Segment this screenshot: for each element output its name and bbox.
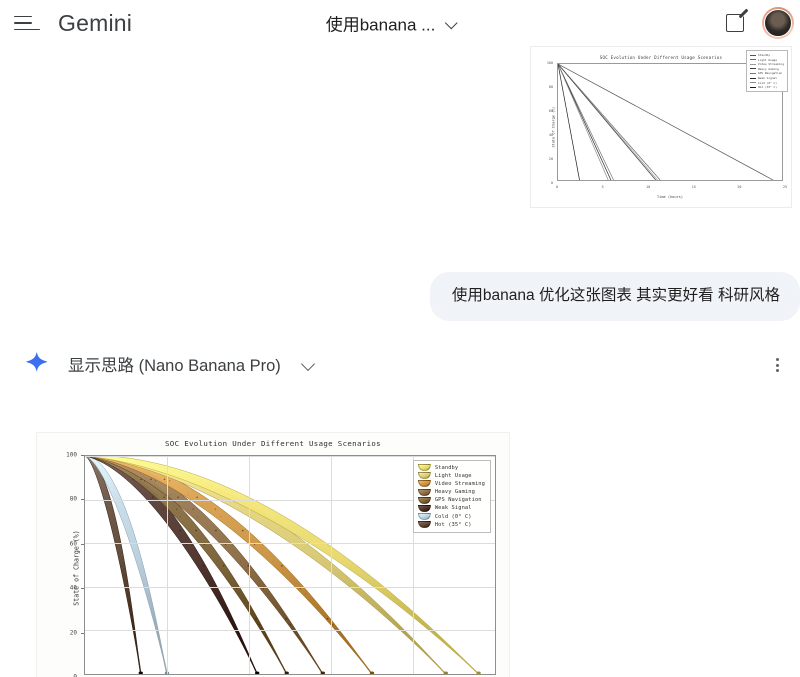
thumbnail-x-tick: 15: [692, 185, 696, 189]
thumbnail-x-axis-label: Time (hours): [557, 195, 783, 199]
legend-item: Light Usage: [418, 472, 485, 479]
banana-speckle: [146, 495, 147, 496]
conversation-area: SOC Evolution Under Different Usage Scen…: [0, 46, 800, 677]
banana-speckle: [255, 618, 257, 620]
thumbnail-legend-item: Light Usage: [750, 58, 784, 62]
legend-label: Cold (0° C): [435, 514, 472, 520]
banana-speckle: [169, 480, 170, 481]
thumbnail-legend-swatch: [750, 59, 756, 60]
banana-speckle: [259, 624, 260, 625]
legend-swatch: [418, 472, 431, 479]
gridline-horizontal: [85, 543, 495, 544]
banana-speckle: [197, 516, 198, 517]
thumbnail-legend-swatch: [750, 68, 756, 69]
legend-swatch: [418, 521, 431, 528]
banana-speckle: [254, 544, 255, 545]
more-vert-icon[interactable]: [768, 356, 786, 374]
model-response-header: 显示思路 (Nano Banana Pro): [24, 351, 317, 377]
y-axis-tickmark: [81, 588, 84, 589]
banana-speckle: [230, 618, 232, 620]
banana-speckle: [152, 496, 154, 498]
thumbnail-line: [558, 64, 608, 180]
legend-item: GPS Navigation: [418, 497, 485, 504]
thumbnail-legend-label: Video Streaming: [758, 62, 784, 66]
thumbnail-legend-item: Heavy Gaming: [750, 67, 784, 71]
legend-item: Weak Signal: [418, 505, 485, 512]
thumbnail-legend-swatch: [750, 87, 756, 88]
thumbnail-y-tick: 100: [547, 61, 553, 65]
thumbnail-legend-label: Light Usage: [758, 58, 777, 62]
gridline-vertical: [331, 456, 332, 674]
banana-speckle: [236, 588, 237, 589]
banana-speckle: [203, 565, 205, 567]
thumbnail-y-tick: 60: [549, 109, 553, 113]
legend-item: Hot (35° C): [418, 521, 485, 528]
compose-icon[interactable]: [726, 12, 748, 34]
thumbnail-y-tick: 0: [551, 181, 553, 185]
thumbnail-legend-item: Cold (0° C): [750, 81, 784, 85]
thumbnail-legend-item: Weak Signal: [750, 76, 784, 80]
banana-speckle: [195, 530, 197, 532]
banana-speckle: [214, 588, 215, 589]
thumbnail-legend-item: Video Streaming: [750, 62, 784, 66]
banana-speckle: [186, 544, 187, 545]
banana-speckle: [290, 624, 291, 625]
header-actions: [726, 7, 790, 39]
banana-speckle: [188, 495, 189, 496]
legend-item: Heavy Gaming: [418, 489, 485, 496]
gridline-vertical: [495, 456, 496, 674]
y-axis-tickmark: [81, 633, 84, 634]
thumbnail-chart[interactable]: SOC Evolution Under Different Usage Scen…: [530, 46, 792, 208]
banana-speckle: [170, 495, 171, 496]
y-axis-tickmark: [81, 544, 84, 545]
thumbnail-line: [558, 64, 611, 180]
banana-speckle: [163, 496, 165, 498]
thumbnail-x-tick: 0: [556, 185, 558, 189]
banana-speckle: [223, 565, 225, 567]
thumbnail-x-tick: 20: [737, 185, 741, 189]
watermark-secondary: [760, 640, 766, 655]
thumbnail-x-tick: 10: [646, 185, 650, 189]
banana-speckle: [157, 495, 158, 496]
avatar[interactable]: [762, 7, 794, 39]
legend-item: Video Streaming: [418, 480, 485, 487]
thumbnail-x-tick: 5: [602, 185, 604, 189]
banana-speckle: [163, 508, 164, 509]
thumbnail-legend: StandbyLight UsageVideo StreamingHeavy G…: [746, 50, 788, 92]
y-axis-tickmark: [81, 455, 84, 456]
banana-speckle: [164, 478, 166, 480]
gridline-horizontal: [85, 587, 495, 588]
thumbnail-legend-label: Hot (35° C): [758, 85, 777, 89]
banana-speckle: [215, 508, 216, 509]
y-axis-tick: 80: [70, 496, 77, 503]
banana-speckle: [327, 618, 329, 620]
y-axis-tick: 20: [70, 629, 77, 636]
thumbnail-y-tick: 80: [549, 85, 553, 89]
banana-speckle: [332, 624, 333, 625]
thumbnail-legend-swatch: [750, 82, 756, 83]
banana-speckle: [240, 561, 241, 562]
thumbnail-legend-swatch: [750, 78, 756, 79]
thumbnail-legend-item: Hot (35° C): [750, 85, 784, 89]
legend-label: Light Usage: [435, 473, 472, 479]
thumbnail-legend-item: GPS Navigation: [750, 71, 784, 75]
banana-speckle: [267, 594, 268, 595]
gridline-horizontal: [85, 456, 495, 457]
chart-legend: StandbyLight UsageVideo StreamingHeavy G…: [413, 460, 491, 533]
thumbnail-line: [558, 64, 773, 180]
app-header: Gemini 使用banana ...: [0, 0, 800, 46]
thumbnail-legend-swatch: [750, 55, 756, 56]
thumbnail-legend-swatch: [750, 73, 756, 74]
thumbnail-y-tick: 40: [549, 133, 553, 137]
banana-speckle: [239, 594, 240, 595]
generated-chart[interactable]: SOC Evolution Under Different Usage Scen…: [36, 432, 510, 677]
thumbnail-y-tick: 20: [549, 157, 553, 161]
banana-speckle: [216, 561, 217, 562]
banana-tip: [139, 671, 143, 674]
watermark: [782, 659, 788, 671]
conversation-title-button[interactable]: 使用banana ...: [326, 11, 459, 36]
thumbnail-legend-label: Cold (0° C): [758, 81, 777, 85]
gridline-vertical: [167, 456, 168, 674]
banana-speckle: [220, 516, 221, 517]
banana-speckle: [217, 594, 218, 595]
chart-title: SOC Evolution Under Different Usage Scen…: [37, 439, 509, 448]
banana-speckle: [204, 544, 205, 545]
legend-label: Hot (35° C): [435, 522, 472, 528]
hamburger-icon[interactable]: [14, 10, 40, 36]
banana-speckle: [150, 478, 152, 480]
legend-label: GPS Navigation: [435, 497, 482, 503]
banana-speckle: [177, 496, 179, 498]
thumbnail-legend-label: GPS Navigation: [758, 71, 782, 75]
banana-speckle: [263, 588, 264, 589]
banana-speckle: [180, 516, 181, 517]
chevron-down-icon: [445, 17, 458, 30]
banana-speckle: [176, 508, 177, 509]
banana-speckle: [215, 530, 217, 532]
gridline-vertical: [249, 456, 250, 674]
banana-speckle: [155, 480, 156, 481]
banana-speckle: [305, 594, 306, 595]
thumbnail-x-tick: 25: [783, 185, 787, 189]
banana-speckle: [285, 618, 287, 620]
legend-label: Heavy Gaming: [435, 489, 475, 495]
thumbnail-line: [558, 64, 580, 180]
banana-speckle: [192, 508, 193, 509]
legend-swatch: [418, 497, 431, 504]
thumbnail-line: [558, 64, 614, 180]
gridline-horizontal: [85, 630, 495, 631]
legend-label: Video Streaming: [435, 481, 485, 487]
thumbnail-legend-label: Standby: [758, 53, 770, 57]
legend-swatch: [418, 464, 431, 471]
banana-speckle: [197, 561, 198, 562]
banana-speckle: [242, 530, 244, 532]
avatar-image: [764, 9, 792, 37]
banana-speckle: [196, 496, 198, 498]
thumbnail-legend-item: Standby: [750, 53, 784, 57]
banana-speckle: [233, 624, 234, 625]
show-thoughts-label[interactable]: 显示思路 (Nano Banana Pro): [68, 352, 281, 376]
y-axis-tick: 0: [73, 674, 77, 677]
thumbnail-line: [558, 64, 656, 180]
legend-swatch: [418, 513, 431, 520]
banana-speckle: [281, 565, 283, 567]
legend-item: Standby: [418, 464, 485, 471]
app-brand: Gemini: [58, 10, 132, 37]
legend-swatch: [418, 505, 431, 512]
banana-speckle: [300, 588, 301, 589]
chevron-down-icon[interactable]: [301, 356, 317, 372]
user-message-bubble: 使用banana 优化这张图表 其实更好看 科研风格: [430, 272, 800, 321]
legend-label: Standby: [435, 465, 458, 471]
plot-area: StandbyLight UsageVideo StreamingHeavy G…: [84, 455, 496, 675]
legend-item: Cold (0° C): [418, 513, 485, 520]
banana-speckle: [273, 561, 274, 562]
y-axis-tick: 40: [70, 585, 77, 592]
conversation-title: 使用banana ...: [326, 11, 436, 36]
legend-swatch: [418, 480, 431, 487]
y-axis-tick: 100: [66, 452, 77, 459]
legend-label: Weak Signal: [435, 505, 472, 511]
attached-image[interactable]: SOC Evolution Under Different Usage Scen…: [530, 46, 792, 208]
y-axis-tickmark: [81, 499, 84, 500]
thumbnail-legend-label: Weak Signal: [758, 76, 777, 80]
banana-speckle: [179, 530, 181, 532]
y-axis-tick: 60: [70, 540, 77, 547]
thumbnail-legend-label: Heavy Gaming: [758, 67, 779, 71]
thumbnail-legend-swatch: [750, 64, 756, 65]
user-message-text: 使用banana 优化这张图表 其实更好看 科研风格: [452, 287, 780, 304]
banana-speckle: [225, 544, 226, 545]
legend-swatch: [418, 489, 431, 496]
gemini-sparkle-icon: [24, 351, 50, 377]
